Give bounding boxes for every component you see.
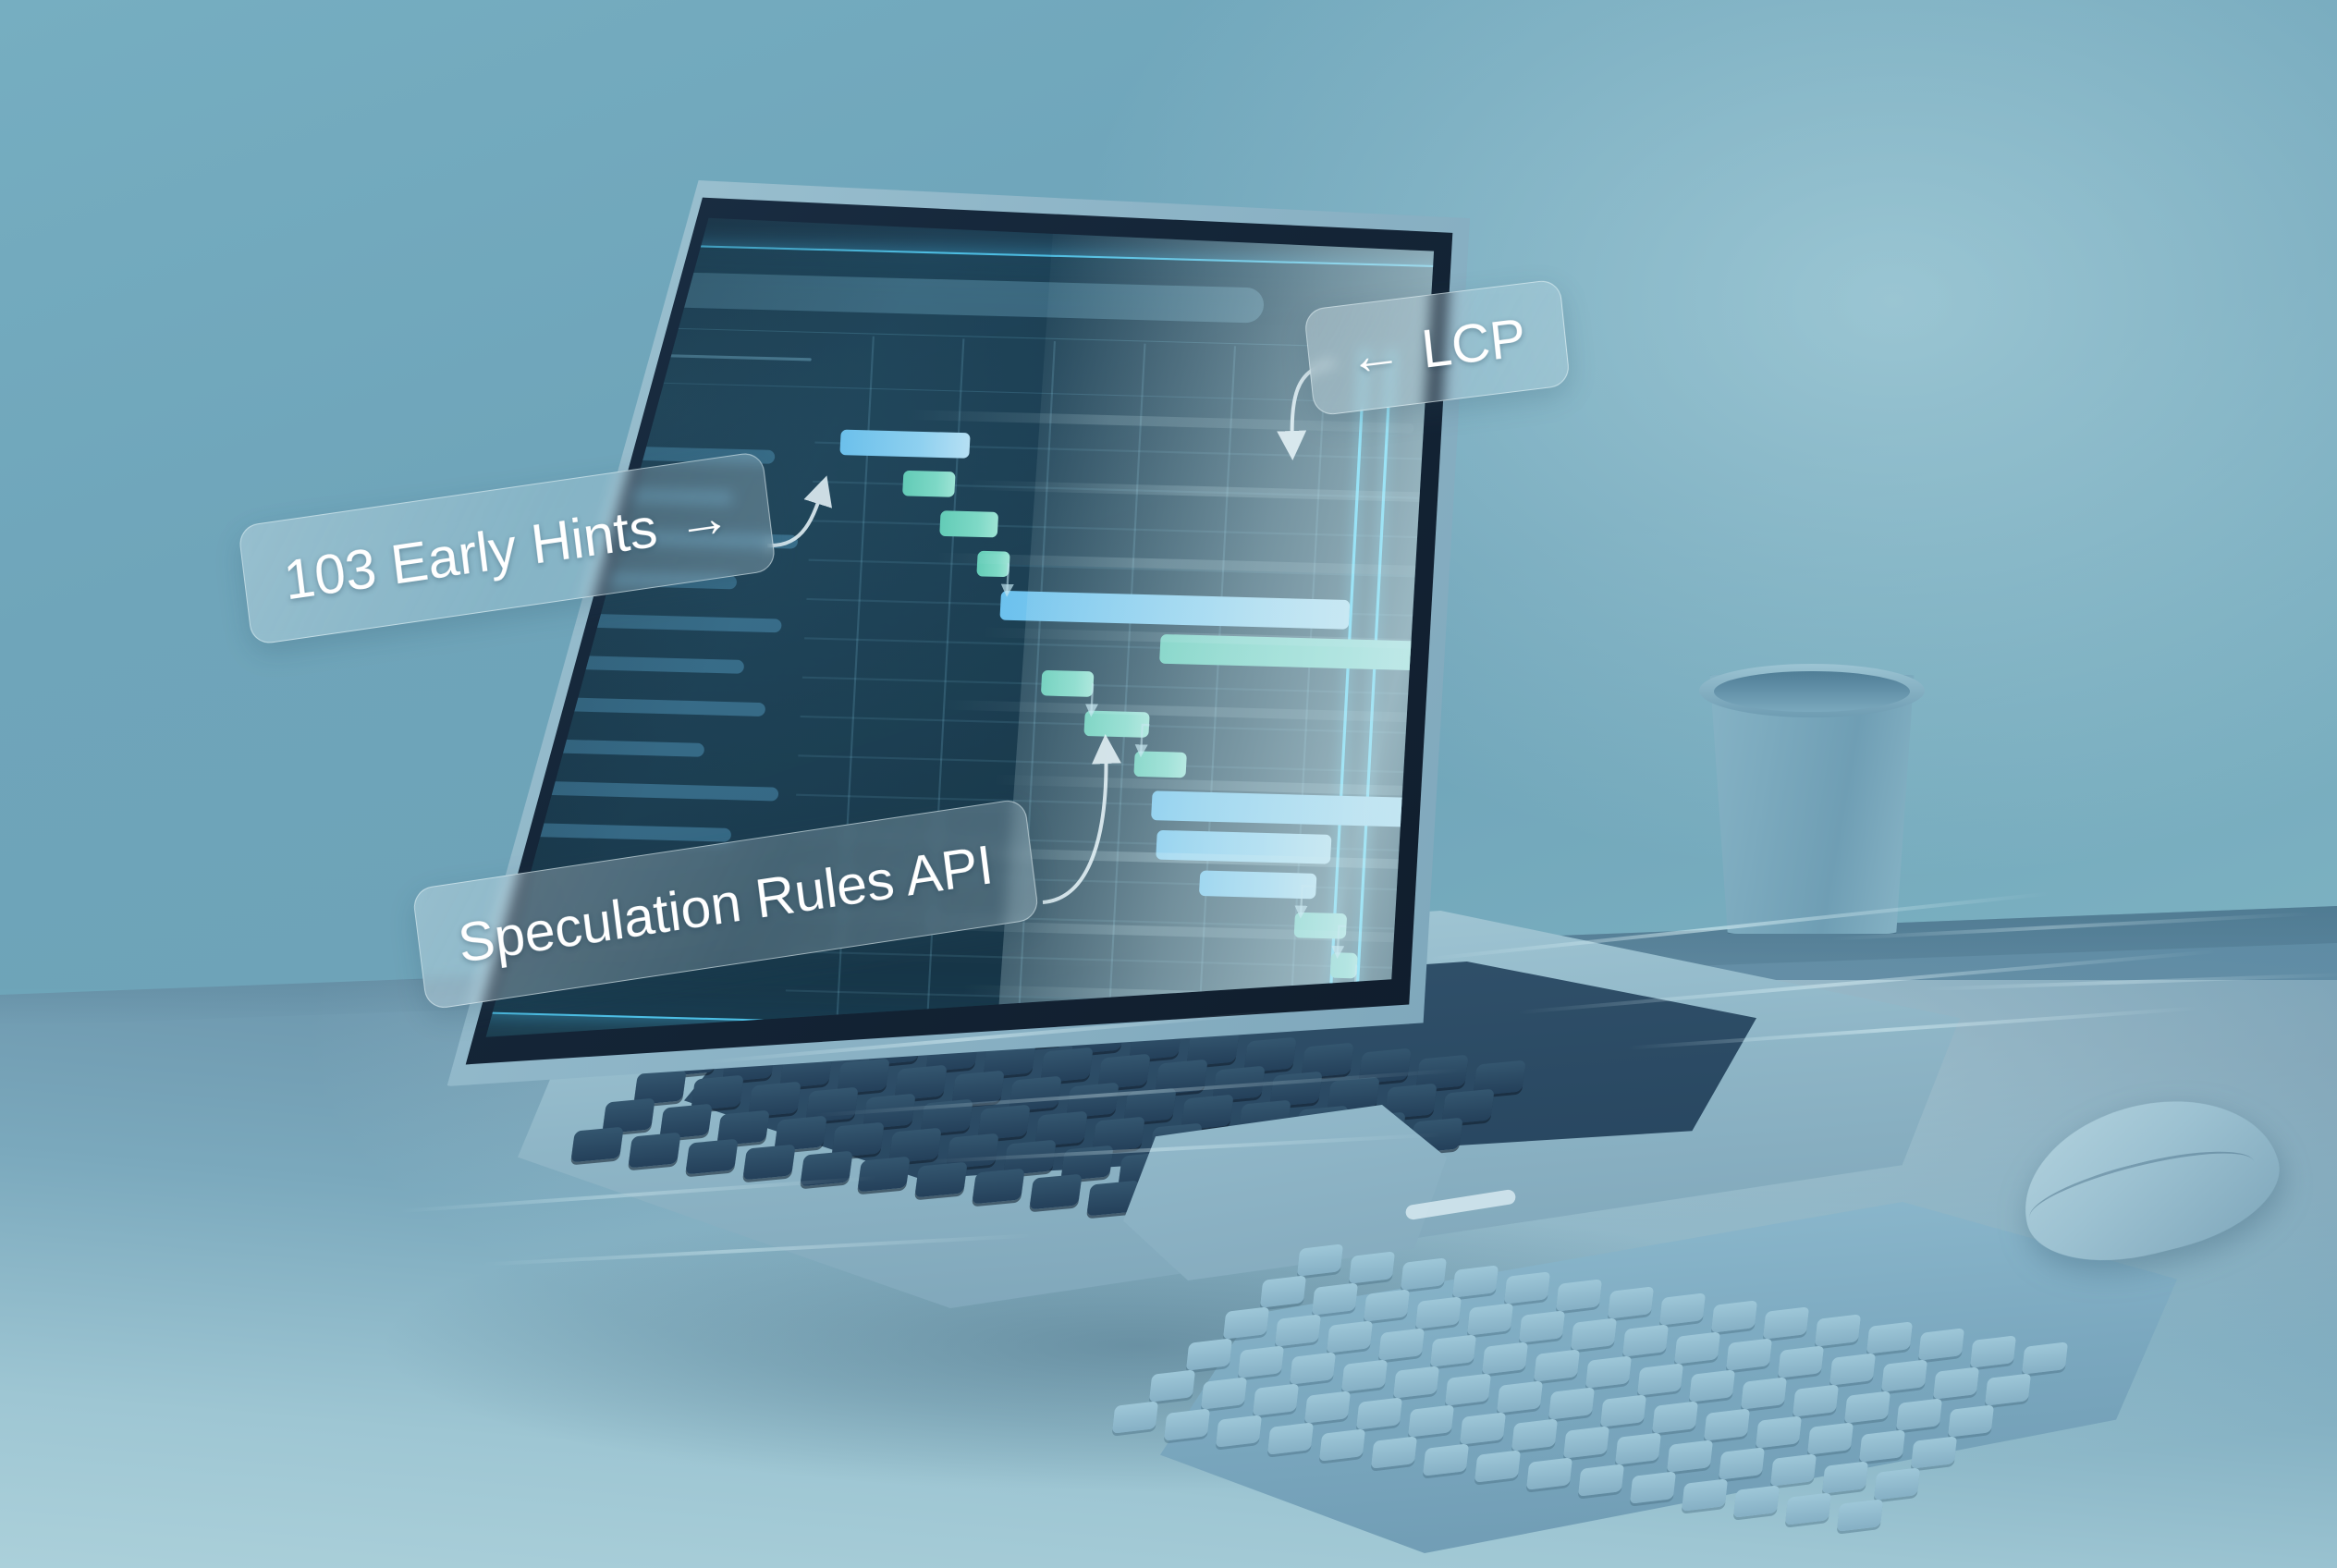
laptop-key[interactable]: [857, 1157, 910, 1193]
waterfall-bar[interactable]: [1133, 751, 1186, 778]
callout-lcp-label: LCP: [1419, 306, 1529, 380]
keyboard-key[interactable]: [1571, 1317, 1617, 1350]
laptop-key[interactable]: [570, 1127, 623, 1163]
waterfall-gridline-horizontal: [811, 520, 1448, 538]
laptop-key[interactable]: [914, 1162, 967, 1198]
waterfall-bar[interactable]: [976, 551, 1009, 577]
mug-interior: [1714, 671, 1910, 712]
keyboard-key[interactable]: [1452, 1265, 1499, 1297]
laptop-key[interactable]: [685, 1138, 738, 1174]
keyboard-key[interactable]: [1674, 1331, 1720, 1364]
laptop-key[interactable]: [1029, 1174, 1082, 1210]
keyboard-key[interactable]: [1534, 1349, 1580, 1381]
close-dot-icon[interactable]: [520, 274, 545, 298]
keyboard-key[interactable]: [1637, 1363, 1683, 1395]
keyboard-key[interactable]: [1829, 1353, 1876, 1385]
waterfall-bar[interactable]: [999, 591, 1350, 630]
keyboard-key[interactable]: [1378, 1328, 1425, 1360]
keyboard-key[interactable]: [1719, 1447, 1765, 1479]
resource-name-row[interactable]: [498, 695, 765, 717]
url-bar[interactable]: [636, 271, 1265, 323]
keyboard-key[interactable]: [1267, 1422, 1314, 1454]
laptop-key[interactable]: [972, 1168, 1024, 1204]
arrow-right-icon: →: [673, 489, 732, 550]
keyboard-key[interactable]: [1415, 1296, 1462, 1329]
scene-root: 103 Early Hints → ← LCP Speculation Rule…: [0, 0, 2337, 1568]
arrow-left-icon: ←: [1346, 325, 1405, 386]
resource-name-row[interactable]: [503, 611, 782, 632]
keyboard-key[interactable]: [1970, 1335, 2016, 1367]
keyboard-key[interactable]: [1793, 1384, 1839, 1416]
traffic-light-dots[interactable]: [520, 274, 631, 300]
keyboard-key[interactable]: [1238, 1345, 1284, 1378]
keyboard-key[interactable]: [1785, 1492, 1831, 1525]
keyboard-key[interactable]: [1526, 1457, 1572, 1489]
laptop-key[interactable]: [628, 1133, 680, 1169]
keyboard-key[interactable]: [1304, 1390, 1351, 1423]
waterfall-bar[interactable]: [1199, 870, 1316, 899]
keyboard-key[interactable]: [1341, 1359, 1388, 1391]
waterfall-bar[interactable]: [1041, 670, 1094, 697]
keyboard-key[interactable]: [1859, 1429, 1905, 1462]
waterfall-bar[interactable]: [1159, 634, 1448, 671]
waterfall-bar[interactable]: [1293, 913, 1346, 939]
keyboard-key[interactable]: [1756, 1415, 1802, 1448]
keyboard-key[interactable]: [1275, 1314, 1321, 1346]
waterfall-bar[interactable]: [902, 471, 955, 497]
laptop-key[interactable]: [742, 1145, 795, 1181]
keyboard-key[interactable]: [1349, 1251, 1395, 1283]
waterfall-bar[interactable]: [1330, 952, 1357, 978]
keyboard-key[interactable]: [1164, 1408, 1210, 1440]
keyboard-key[interactable]: [1497, 1380, 1543, 1413]
waterfall-bar[interactable]: [939, 510, 998, 537]
keyboard-key[interactable]: [1682, 1478, 1728, 1511]
keyboard-key[interactable]: [1423, 1443, 1469, 1476]
keyboard-key[interactable]: [1608, 1286, 1654, 1318]
keyboard-key[interactable]: [1600, 1394, 1646, 1427]
resource-name-row[interactable]: [496, 738, 705, 757]
minimize-dot-icon[interactable]: [563, 275, 588, 299]
keyboard-key[interactable]: [1866, 1321, 1913, 1354]
keyboard-key[interactable]: [1711, 1300, 1757, 1332]
keyboard-key[interactable]: [1933, 1366, 1979, 1399]
keyboard-key[interactable]: [1896, 1398, 1942, 1430]
callout-early-hints-label: 103 Early Hints: [280, 495, 660, 612]
waterfall-bar[interactable]: [1151, 790, 1444, 827]
keyboard-key[interactable]: [1822, 1461, 1868, 1493]
waterfall-bar[interactable]: [1084, 711, 1150, 738]
resource-name-row[interactable]: [501, 654, 745, 674]
waterfall-bar[interactable]: [840, 430, 971, 459]
browser-titlebar: [487, 241, 1448, 349]
keyboard-key[interactable]: [1201, 1377, 1247, 1409]
keyboard-key[interactable]: [1460, 1412, 1506, 1444]
zoom-dot-icon[interactable]: [606, 276, 631, 300]
keyboard-key[interactable]: [1312, 1282, 1358, 1315]
waterfall-bar[interactable]: [1156, 830, 1332, 864]
keyboard-key[interactable]: [1563, 1426, 1609, 1458]
